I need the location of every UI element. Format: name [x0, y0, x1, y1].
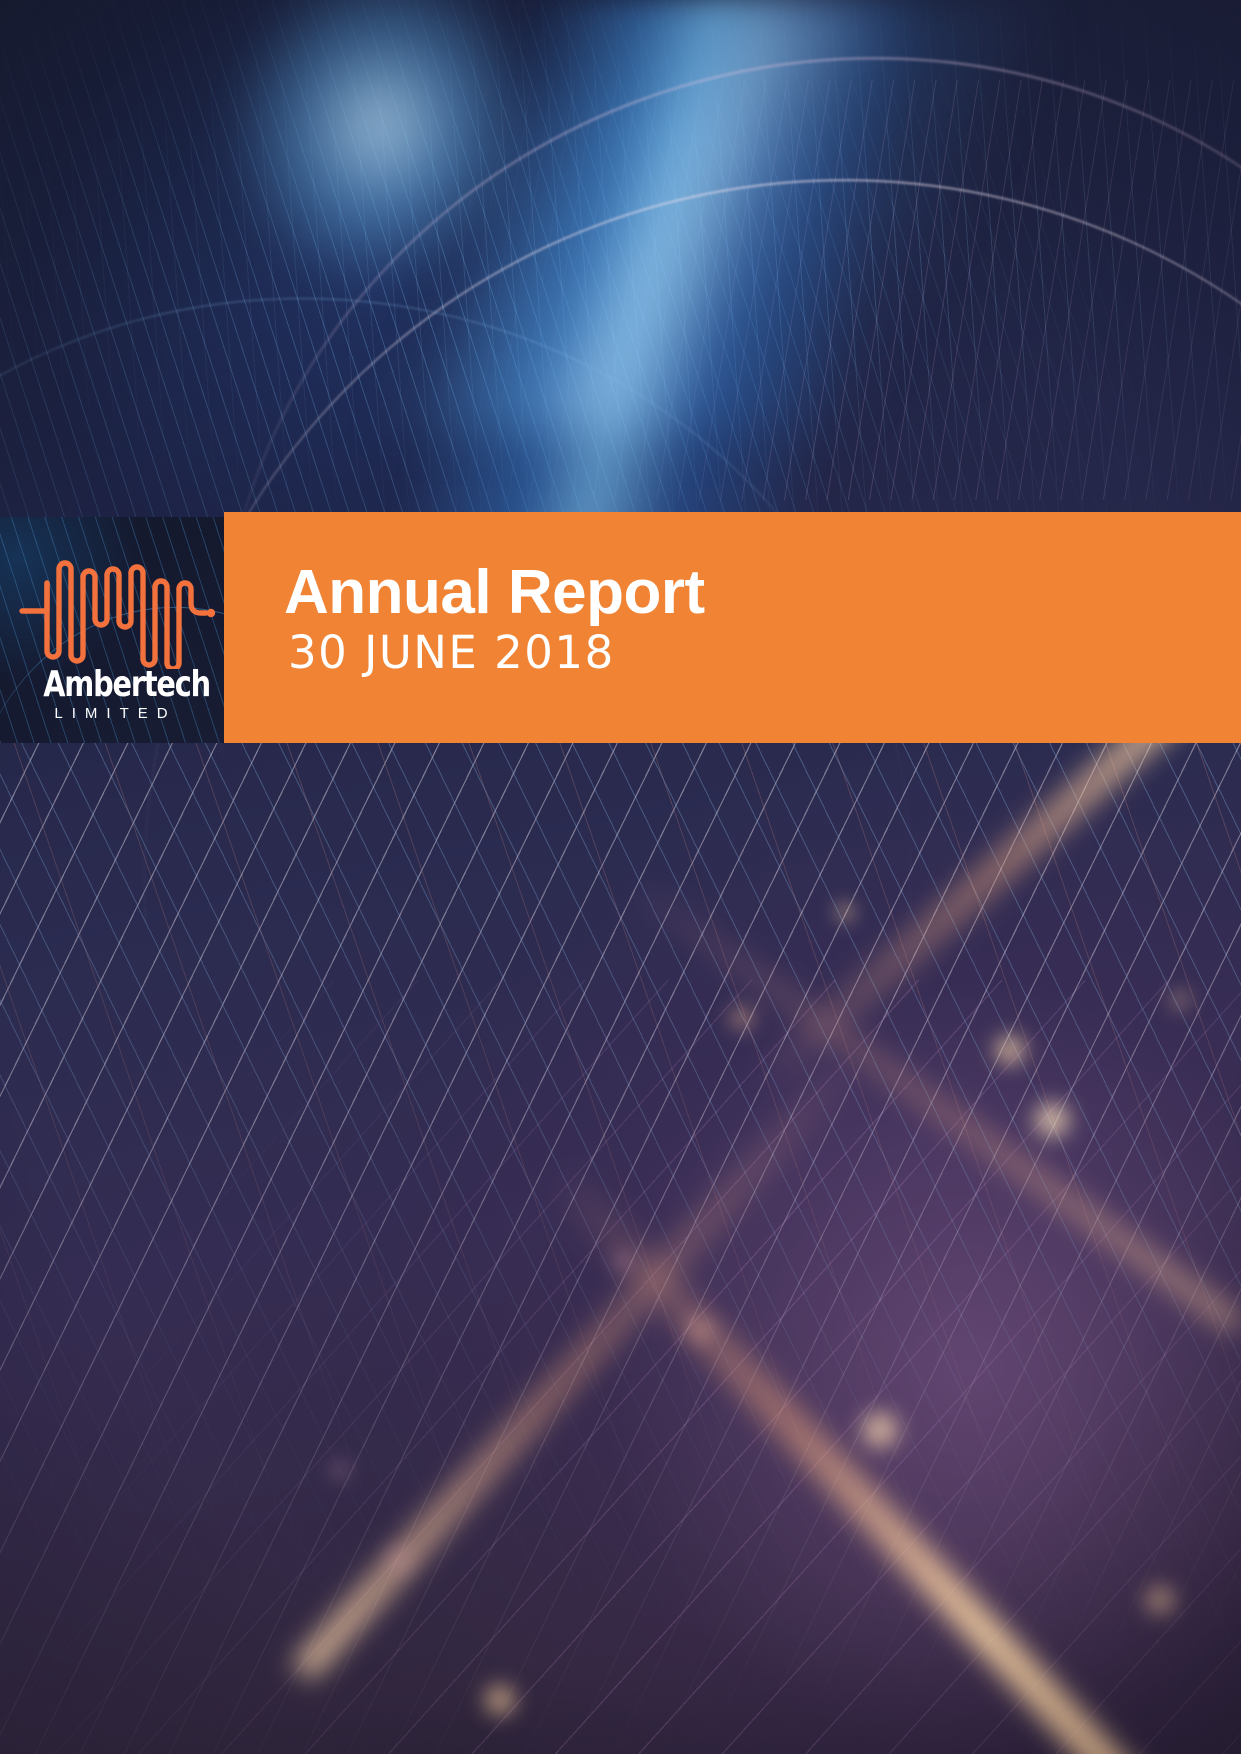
- background-bokeh-node: [1026, 1094, 1078, 1146]
- title-banner: Annual Report 30 JUNE 2018: [224, 512, 1241, 743]
- logo-company-descriptor: LIMITED: [33, 705, 198, 723]
- background-bokeh-node: [477, 1677, 523, 1723]
- background-bokeh-node: [725, 1001, 759, 1035]
- report-cover-page: Annual Report 30 JUNE 2018 Ambertech: [0, 0, 1241, 1754]
- page-subtitle-date: 30 JUNE 2018: [288, 629, 705, 676]
- logo-panel: Ambertech LIMITED: [0, 517, 224, 743]
- audio-waveform-icon: [18, 559, 216, 669]
- background-bokeh-node: [1138, 1578, 1182, 1622]
- background-bokeh-node: [1165, 985, 1195, 1015]
- background-bokeh-band-upper: [634, 882, 1241, 1335]
- background-mesh-violet-strands: [0, 980, 1241, 1754]
- logo-wordmark: Ambertech LIMITED: [26, 667, 198, 723]
- background-bokeh-node: [853, 1403, 907, 1457]
- background-bokeh-node: [988, 1028, 1032, 1072]
- title-banner-text-group: Annual Report 30 JUNE 2018: [284, 560, 705, 676]
- background-bokeh-node: [325, 1455, 355, 1485]
- background-bokeh-band-bottom: [290, 1055, 859, 1683]
- logo-company-name: Ambertech: [43, 667, 181, 703]
- page-title: Annual Report: [284, 560, 705, 625]
